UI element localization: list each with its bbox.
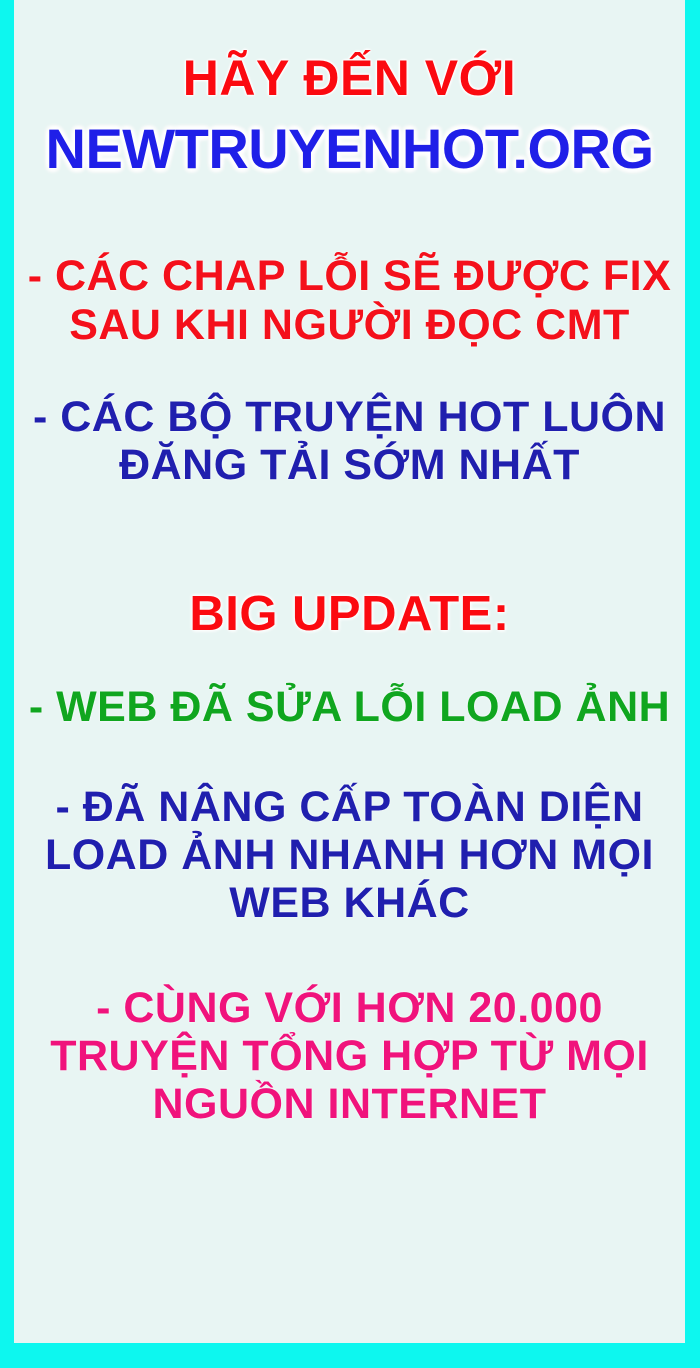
left-cyan-border [0,0,14,1343]
bullet-full-upgrade: - ĐÃ NÂNG CẤP TOÀN DIỆN LOAD ẢNH NHANH H… [14,783,685,927]
poster-content-panel: HÃY ĐẾN VỚI NEWTRUYENHOT.ORG - CÁC CHAP … [14,0,685,1343]
site-name-wordmark[interactable]: NEWTRUYENHOT.ORG [14,119,685,178]
bullet-hot-series-early: - CÁC BỘ TRUYỆN HOT LUÔN ĐĂNG TẢI SỚM NH… [14,393,685,489]
bullet-image-load-fixed: - WEB ĐÃ SỬA LỖI LOAD ẢNH [14,683,685,731]
promo-poster: HÃY ĐẾN VỚI NEWTRUYENHOT.ORG - CÁC CHAP … [0,0,700,1368]
bullet-twenty-thousand-stories: - CÙNG VỚI HƠN 20.000 TRUYỆN TỔNG HỢP TỪ… [14,984,685,1128]
headline-call-to-action: HÃY ĐẾN VỚI [14,52,685,105]
right-cyan-border [685,0,700,1343]
bullet-chapter-fix: - CÁC CHAP LỖI SẼ ĐƯỢC FIX SAU KHI NGƯỜI… [14,252,685,348]
section-heading-big-update: BIG UPDATE: [14,589,685,641]
bottom-cyan-border [0,1343,700,1368]
